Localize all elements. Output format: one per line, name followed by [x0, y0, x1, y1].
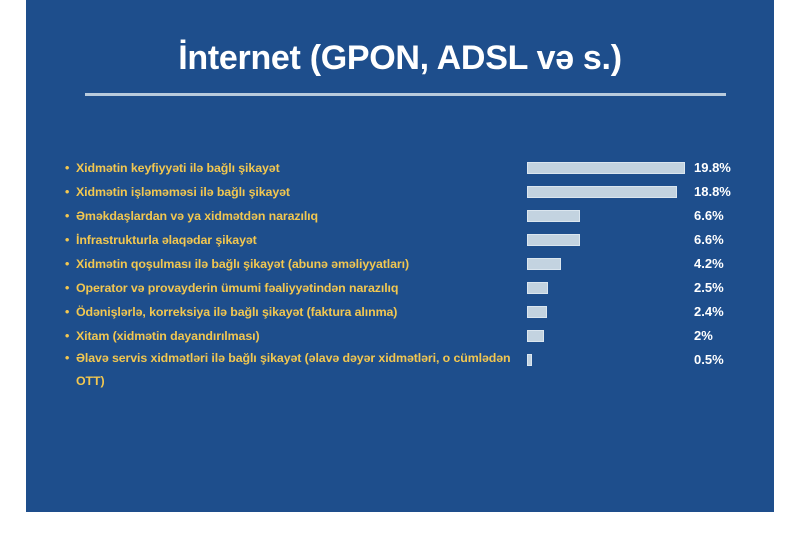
- row-value: 18.8%: [694, 180, 731, 204]
- row-value: 19.8%: [694, 156, 731, 180]
- row-value: 2.4%: [694, 300, 724, 324]
- bar-track: [527, 306, 692, 318]
- bullet-icon: •: [65, 324, 76, 348]
- bar-track: [527, 210, 692, 222]
- bullet-icon: •: [65, 156, 76, 180]
- row-value: 6.6%: [694, 204, 724, 228]
- bar-fill: [527, 234, 580, 246]
- bullet-icon: •: [65, 276, 76, 300]
- row-label: •Xidmətin keyfiyyəti ilə bağlı şikayət: [65, 156, 525, 180]
- bar-track: [527, 282, 692, 294]
- row-label: •Xitam (xidmətin dayandırılması): [65, 324, 525, 348]
- bar-track: [527, 354, 692, 366]
- row-label: •Əməkdaşlardan və ya xidmətdən narazılıq: [65, 204, 525, 228]
- bar-track: [527, 186, 692, 198]
- row-value: 2%: [694, 324, 713, 348]
- bullet-icon: •: [65, 300, 76, 324]
- bullet-icon: •: [65, 228, 76, 252]
- row-label: •Xidmətin işləməməsi ilə bağlı şikayət: [65, 180, 525, 204]
- row-label-text: Xidmətin qoşulması ilə bağlı şikayət (ab…: [76, 257, 409, 271]
- row-label-text: Əməkdaşlardan və ya xidmətdən narazılıq: [76, 209, 318, 223]
- row-label-text: Xidmətin keyfiyyəti ilə bağlı şikayət: [76, 161, 280, 175]
- chart-row: •Xidmətin işləməməsi ilə bağlı şikayət 1…: [26, 180, 774, 204]
- bullet-icon: •: [65, 347, 76, 370]
- row-value: 6.6%: [694, 228, 724, 252]
- bar-fill: [527, 186, 677, 198]
- bullet-icon: •: [65, 252, 76, 276]
- bar-fill: [527, 330, 544, 342]
- row-label: •Operator və provayderin ümumi fəaliyyət…: [65, 276, 525, 300]
- row-value: 2.5%: [694, 276, 724, 300]
- row-label: •Əlavə servis xidmətləri ilə bağlı şikay…: [65, 347, 525, 393]
- bar-track: [527, 330, 692, 342]
- bullet-icon: •: [65, 180, 76, 204]
- row-label-text: Ödənişlərlə, korreksiya ilə bağlı şikayə…: [76, 305, 397, 319]
- row-label-text: Xidmətin işləməməsi ilə bağlı şikayət: [76, 185, 290, 199]
- row-value: 4.2%: [694, 252, 724, 276]
- page-title: İnternet (GPON, ADSL və s.): [26, 40, 774, 77]
- row-label-text: İnfrastrukturla əlaqədar şikayət: [76, 233, 257, 247]
- chart-row: •Xidmətin qoşulması ilə bağlı şikayət (a…: [26, 252, 774, 276]
- chart-row: •Əlavə servis xidmətləri ilə bağlı şikay…: [26, 348, 774, 372]
- bar-fill: [527, 162, 685, 174]
- bar-fill: [527, 282, 548, 294]
- row-value: 0.5%: [694, 348, 724, 372]
- title-divider: [85, 93, 726, 96]
- bar-fill: [527, 306, 547, 318]
- chart-row: •Ödənişlərlə, korreksiya ilə bağlı şikay…: [26, 300, 774, 324]
- slide-panel: İnternet (GPON, ADSL və s.) •Xidmətin ke…: [26, 0, 774, 512]
- slide-root: İnternet (GPON, ADSL və s.) •Xidmətin ke…: [0, 0, 800, 546]
- row-label-text: Əlavə servis xidmətləri ilə bağlı şikayə…: [76, 347, 516, 393]
- chart-row: •Xitam (xidmətin dayandırılması) 2%: [26, 324, 774, 348]
- chart-row: •Operator və provayderin ümumi fəaliyyət…: [26, 276, 774, 300]
- row-label: •Xidmətin qoşulması ilə bağlı şikayət (a…: [65, 252, 525, 276]
- bar-fill: [527, 258, 561, 270]
- row-label-text: Xitam (xidmətin dayandırılması): [76, 329, 260, 343]
- bar-track: [527, 258, 692, 270]
- chart-row: •İnfrastrukturla əlaqədar şikayət 6.6%: [26, 228, 774, 252]
- row-label: •Ödənişlərlə, korreksiya ilə bağlı şikay…: [65, 300, 525, 324]
- bar-chart: •Xidmətin keyfiyyəti ilə bağlı şikayət 1…: [26, 156, 774, 406]
- chart-row: •Əməkdaşlardan və ya xidmətdən narazılıq…: [26, 204, 774, 228]
- chart-row: •Xidmətin keyfiyyəti ilə bağlı şikayət 1…: [26, 156, 774, 180]
- bullet-icon: •: [65, 204, 76, 228]
- bar-fill: [527, 354, 532, 366]
- bar-track: [527, 162, 692, 174]
- bar-fill: [527, 210, 580, 222]
- bar-track: [527, 234, 692, 246]
- row-label: •İnfrastrukturla əlaqədar şikayət: [65, 228, 525, 252]
- row-label-text: Operator və provayderin ümumi fəaliyyəti…: [76, 281, 398, 295]
